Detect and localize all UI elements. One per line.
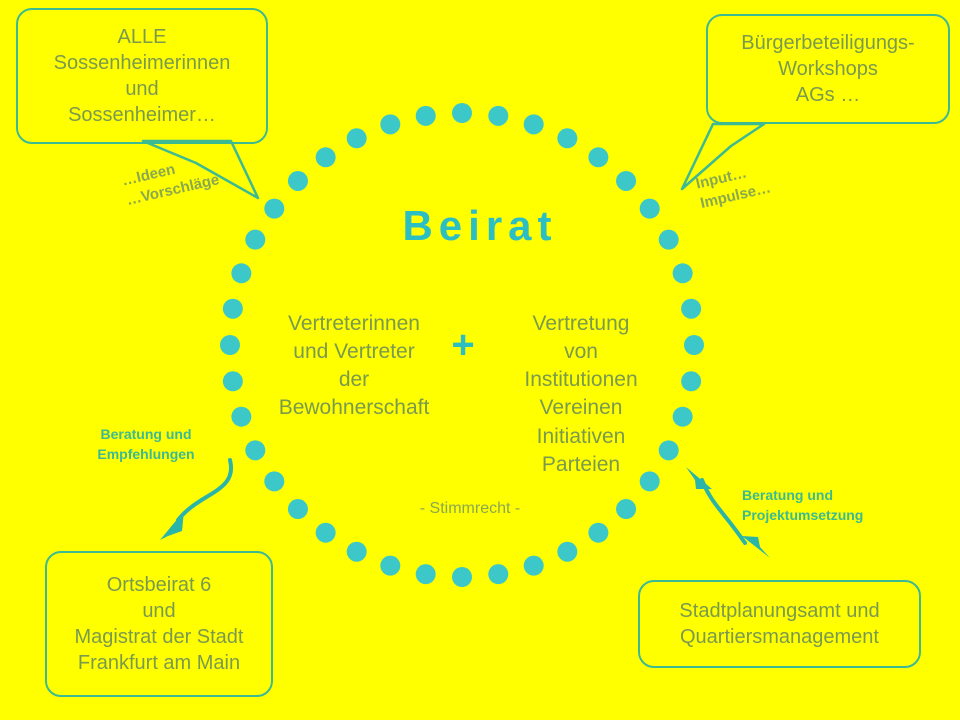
box-stadtplanungsamt[interactable]: Stadtplanungsamt und Quartiersmanagement (638, 580, 921, 668)
ring-dot (223, 299, 243, 319)
ring-dot (616, 499, 636, 519)
ring-dot (380, 114, 400, 134)
ring-dot (588, 523, 608, 543)
ring-dot (231, 407, 251, 427)
ring-dot (416, 106, 436, 126)
diagram-title: Beirat (0, 202, 960, 250)
arrow-left-advice (160, 460, 231, 540)
ring-dot (684, 335, 704, 355)
speech-bubble-citizens-text: ALLE Sossenheimerinnen und Sossenheimer… (28, 24, 256, 128)
ring-dot (288, 499, 308, 519)
ring-dot (288, 171, 308, 191)
speech-bubble-citizens[interactable]: ALLE Sossenheimerinnen und Sossenheimer… (16, 8, 268, 144)
center-column-right: Vertretung von Institutionen Vereinen In… (488, 310, 674, 479)
center-column-left: Vertreterinnen und Vertreter der Bewohne… (258, 310, 450, 423)
ring-dot (673, 407, 693, 427)
box-ortsbeirat[interactable]: Ortsbeirat 6 und Magistrat der Stadt Fra… (45, 551, 273, 697)
diagram-canvas: ALLE Sossenheimerinnen und Sossenheimer…… (0, 0, 960, 720)
ring-dot (380, 556, 400, 576)
ring-dot (452, 103, 472, 123)
annotation-beratung-projektumsetzung: Beratung und Projektumsetzung (742, 486, 932, 525)
ring-dot (588, 147, 608, 167)
ring-dot (316, 523, 336, 543)
ring-dot (616, 171, 636, 191)
ring-dot (231, 263, 251, 283)
voting-rights-note: - Stimmrecht - (330, 500, 610, 518)
ring-dot (220, 335, 240, 355)
ring-dot (488, 106, 508, 126)
ring-dot (681, 299, 701, 319)
ring-dot (557, 542, 577, 562)
ring-dot (673, 263, 693, 283)
ring-dot (416, 564, 436, 584)
ring-dot (524, 556, 544, 576)
speech-bubble-workshops-text: Bürgerbeteiligungs- Workshops AGs … (718, 30, 938, 108)
box-stadtplanungsamt-text: Stadtplanungsamt und Quartiersmanagement (650, 598, 909, 650)
ring-dot (245, 440, 265, 460)
ring-dot (347, 128, 367, 148)
ring-dot (557, 128, 577, 148)
ring-dot (316, 147, 336, 167)
ring-dot (223, 371, 243, 391)
ring-dot (347, 542, 367, 562)
speech-bubble-workshops[interactable]: Bürgerbeteiligungs- Workshops AGs … (706, 14, 950, 124)
ring-dot (681, 371, 701, 391)
ring-dot (524, 114, 544, 134)
ring-dot (452, 567, 472, 587)
annotation-beratung-empfehlungen: Beratung und Empfehlungen (66, 425, 226, 464)
box-ortsbeirat-text: Ortsbeirat 6 und Magistrat der Stadt Fra… (57, 572, 261, 676)
ring-dot (488, 564, 508, 584)
ring-dot (264, 471, 284, 491)
